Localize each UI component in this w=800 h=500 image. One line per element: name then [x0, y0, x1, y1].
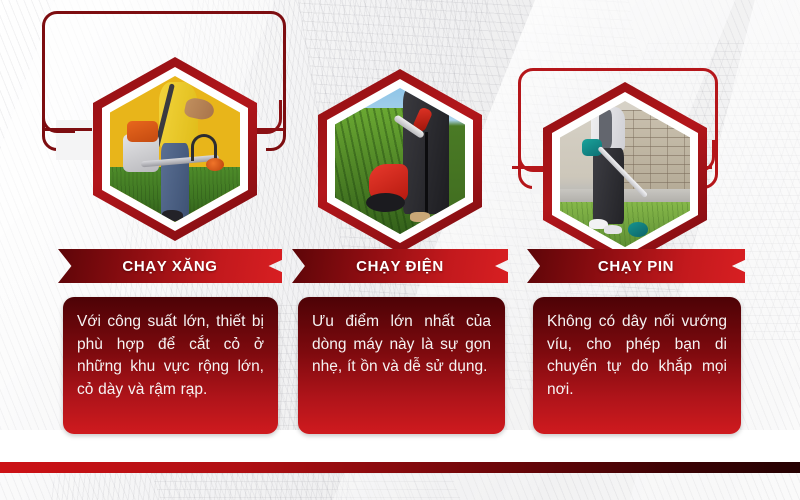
bottom-accent-bar	[0, 462, 800, 473]
background-white-strip	[0, 430, 800, 462]
hex-tile-battery	[543, 82, 707, 266]
text-card-battery: Không có dây nối vướng víu, cho phép bạn…	[533, 297, 741, 434]
banner-gas[interactable]: CHẠY XĂNG	[58, 249, 282, 283]
infographic-canvas: CHẠY XĂNG CHẠY ĐIỆN CHẠY PIN Với công su…	[0, 0, 800, 500]
banner-electric[interactable]: CHẠY ĐIỆN	[292, 249, 508, 283]
card-body-gas: Với công suất lớn, thiết bị phù hợp để c…	[77, 311, 264, 402]
card-body-electric: Ưu điểm lớn nhất của dòng máy này là sự …	[312, 311, 491, 379]
text-card-electric: Ưu điểm lớn nhất của dòng máy này là sự …	[298, 297, 505, 434]
connector-left-lower-corner	[42, 100, 75, 133]
hex-tile-gas	[93, 57, 257, 241]
card-body-battery: Không có dây nối vướng víu, cho phép bạn…	[547, 311, 727, 402]
text-card-gas: Với công suất lớn, thiết bị phù hợp để c…	[63, 297, 278, 434]
banner-label-gas: CHẠY XĂNG	[122, 258, 217, 275]
hex-tile-electric	[318, 69, 482, 253]
banner-battery[interactable]: CHẠY PIN	[527, 249, 745, 283]
banner-label-electric: CHẠY ĐIỆN	[356, 258, 444, 275]
banner-label-battery: CHẠY PIN	[598, 258, 674, 275]
